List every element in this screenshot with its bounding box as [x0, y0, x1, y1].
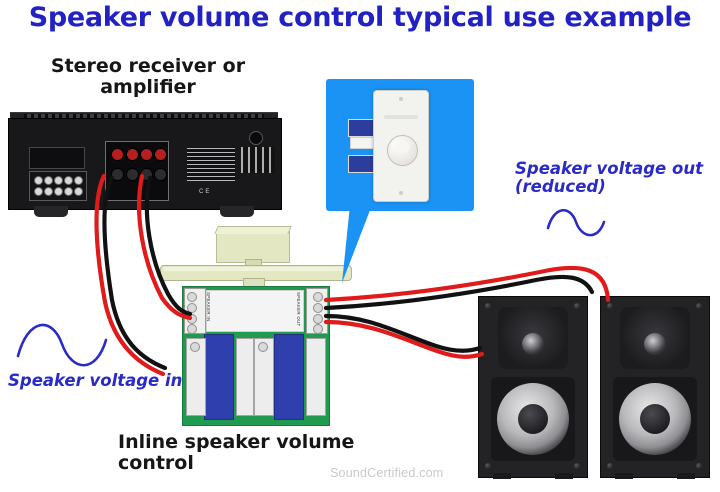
wire-black-left-out — [326, 316, 480, 351]
wire-black-right-in — [147, 178, 190, 314]
callout-tail — [342, 205, 372, 283]
input-sine-wave — [18, 325, 106, 365]
wire-black-left-in — [104, 178, 165, 368]
output-sine-wave — [548, 210, 604, 235]
wire-black-right-out — [326, 277, 592, 308]
wire-red-right-out — [326, 268, 608, 300]
voltage-in-label: Speaker voltage in — [8, 372, 188, 390]
diagram-canvas: Speaker volume control typical use examp… — [0, 0, 720, 492]
wiring-and-waveform-overlay — [0, 0, 720, 492]
watermark: SoundCertified.com — [330, 466, 443, 480]
voltage-out-label: Speaker voltage out (reduced) — [515, 160, 715, 197]
